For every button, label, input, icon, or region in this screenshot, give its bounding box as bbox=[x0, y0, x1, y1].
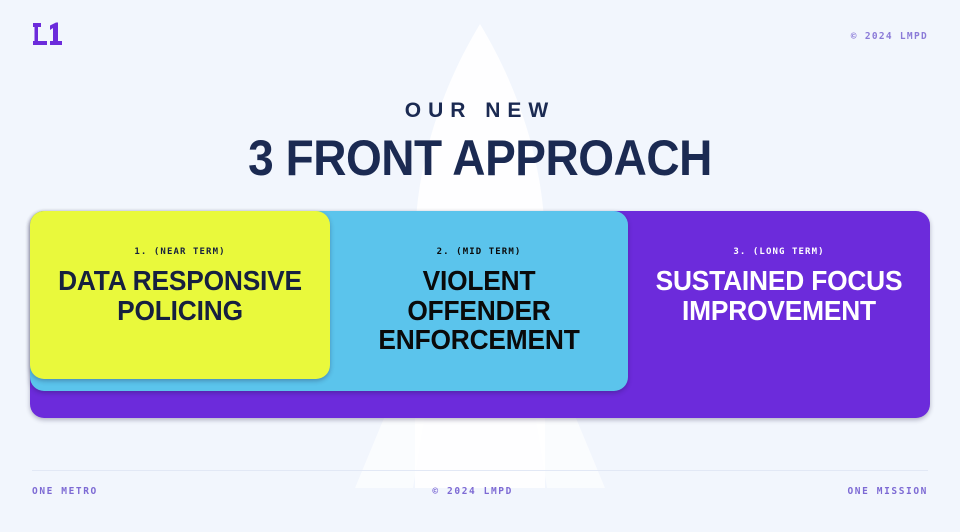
three-front-card-stack: 1. (NEAR TERM) DATA RESPONSIVE POLICING … bbox=[30, 211, 930, 418]
card-title: SUSTAINED FOCUS IMPROVEMENT bbox=[637, 266, 921, 325]
footer-divider bbox=[32, 470, 928, 471]
card-long-term[interactable]: 3. (LONG TERM) SUSTAINED FOCUS IMPROVEME… bbox=[628, 211, 930, 379]
card-mid-term[interactable]: 2. (MID TERM) VIOLENT OFFENDER ENFORCEME… bbox=[330, 211, 628, 379]
footer-left-text: ONE METRO bbox=[32, 486, 98, 497]
footer-center-copyright: © 2024 LMPD bbox=[98, 486, 848, 497]
card-title: DATA RESPONSIVE POLICING bbox=[39, 266, 321, 325]
card-near-term[interactable]: 1. (NEAR TERM) DATA RESPONSIVE POLICING bbox=[30, 211, 330, 379]
card-kicker: 3. (LONG TERM) bbox=[733, 247, 824, 257]
title-eyebrow: OUR NEW bbox=[0, 100, 960, 121]
m1-monogram-logo[interactable] bbox=[32, 21, 66, 52]
card-kicker: 2. (MID TERM) bbox=[437, 247, 522, 257]
header-bar: © 2024 LMPD bbox=[0, 0, 960, 72]
card-title: VIOLENT OFFENDER ENFORCEMENT bbox=[339, 266, 619, 355]
title-block: OUR NEW 3 FRONT APPROACH bbox=[0, 100, 960, 183]
page-title: 3 FRONT APPROACH bbox=[38, 133, 921, 183]
footer-right-text: ONE MISSION bbox=[847, 486, 928, 497]
header-copyright: © 2024 LMPD bbox=[851, 31, 928, 42]
card-kicker: 1. (NEAR TERM) bbox=[134, 247, 225, 257]
footer-bar: ONE METRO © 2024 LMPD ONE MISSION bbox=[0, 486, 960, 497]
